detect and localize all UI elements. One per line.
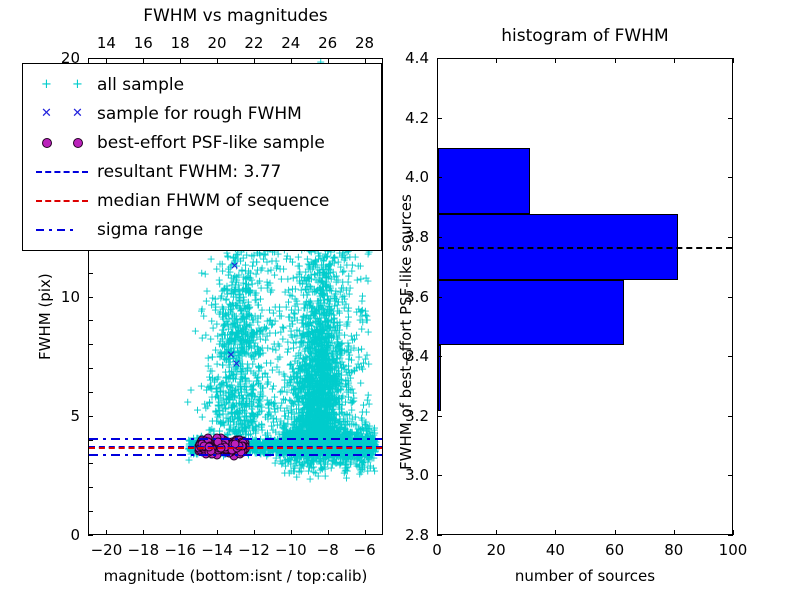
figure-canvas: ++++++++++++++++++++++++++++++++++++++++… — [0, 0, 800, 600]
